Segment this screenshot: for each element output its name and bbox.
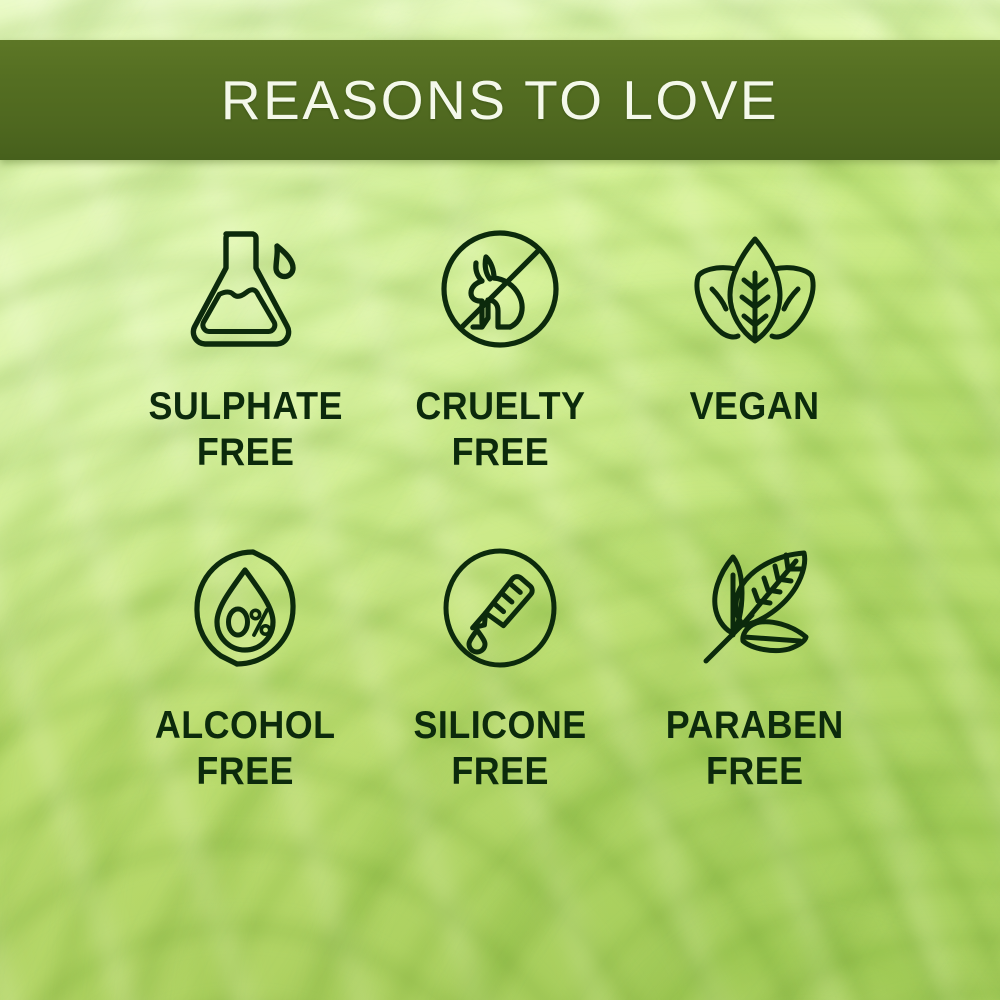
badge-label: CRUELTY FREE bbox=[415, 384, 585, 476]
badge-label: VEGAN bbox=[690, 384, 820, 430]
flask-droplet-icon bbox=[193, 214, 297, 364]
badge-label-line2: FREE bbox=[148, 430, 342, 476]
badge-label-line2: FREE bbox=[666, 749, 844, 795]
badge-alcohol-free: ALCOHOL FREE bbox=[118, 515, 373, 840]
badge-label-line1: CRUELTY bbox=[415, 384, 585, 430]
reasons-to-love-poster: REASONS TO LOVE SULPHATE FREE bbox=[0, 0, 1000, 1000]
three-leaves-icon bbox=[690, 214, 820, 364]
badge-label-line2: FREE bbox=[413, 749, 586, 795]
badge-label-line1: ALCOHOL bbox=[155, 703, 336, 749]
badge-vegan: VEGAN bbox=[627, 190, 882, 515]
badge-label-line1: PARABEN bbox=[666, 703, 844, 749]
badge-label-line2: FREE bbox=[415, 430, 585, 476]
badge-silicone-free: SILICONE FREE bbox=[373, 515, 628, 840]
badge-label-line1: SILICONE bbox=[413, 703, 586, 749]
dropper-pipette-icon bbox=[441, 533, 559, 683]
badge-paraben-free: PARABEN FREE bbox=[627, 515, 882, 840]
badge-label: ALCOHOL FREE bbox=[155, 703, 336, 795]
badge-label-line2: FREE bbox=[155, 749, 336, 795]
badge-sulphate-free: SULPHATE FREE bbox=[118, 190, 373, 515]
leaf-sprig-icon bbox=[692, 533, 818, 683]
badge-cruelty-free: CRUELTY FREE bbox=[373, 190, 628, 515]
zero-percent-droplet-icon bbox=[183, 533, 307, 683]
badge-label-line1: SULPHATE bbox=[148, 384, 342, 430]
badge-label-line1: VEGAN bbox=[690, 384, 820, 430]
badge-label: SULPHATE FREE bbox=[148, 384, 342, 476]
badge-label: SILICONE FREE bbox=[413, 703, 586, 795]
header-band: REASONS TO LOVE bbox=[0, 40, 1000, 160]
badge-label: PARABEN FREE bbox=[666, 703, 844, 795]
page-title: REASONS TO LOVE bbox=[221, 68, 779, 132]
no-animal-testing-icon bbox=[438, 214, 562, 364]
badge-grid: SULPHATE FREE CRUELTY bbox=[0, 190, 1000, 840]
